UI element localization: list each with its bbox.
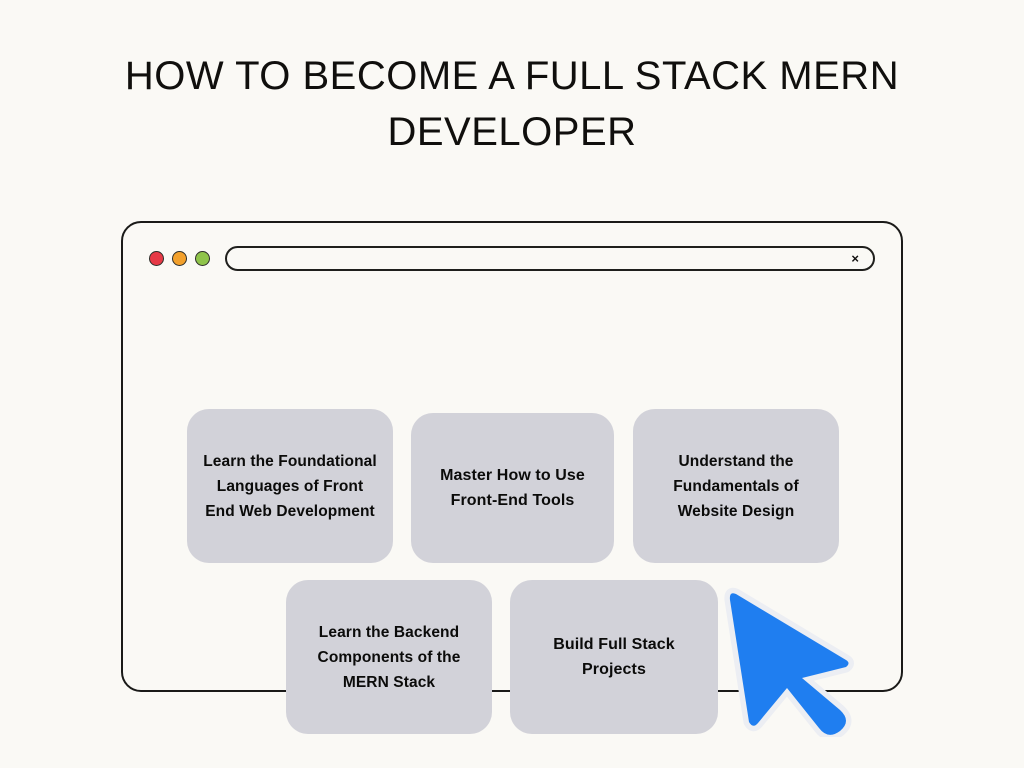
step-card-5[interactable]: Build Full Stack Projects [510,580,718,734]
step-card-4[interactable]: Learn the Backend Components of the MERN… [286,580,492,734]
step-card-2[interactable]: Master How to Use Front-End Tools [411,413,614,563]
step-card-label: Learn the Backend Components of the MERN… [300,620,478,695]
minimize-window-dot[interactable] [172,251,187,266]
step-card-3[interactable]: Understand the Fundamentals of Website D… [633,409,839,563]
browser-toolbar: × [123,223,901,293]
step-card-label: Understand the Fundamentals of Website D… [647,449,825,524]
traffic-light-group [149,251,210,266]
maximize-window-dot[interactable] [195,251,210,266]
page-title: How to Become a Full Stack MERN Develope… [0,48,1024,160]
step-card-grid: Learn the Foundational Languages of Fron… [123,293,901,694]
step-card-label: Build Full Stack Projects [524,632,704,682]
step-card-label: Master How to Use Front-End Tools [425,463,600,513]
close-icon[interactable]: × [851,252,859,265]
browser-window: × Learn the Foundational Languages of Fr… [121,221,903,692]
step-card-1[interactable]: Learn the Foundational Languages of Fron… [187,409,393,563]
close-window-dot[interactable] [149,251,164,266]
step-card-label: Learn the Foundational Languages of Fron… [201,449,379,524]
address-bar[interactable]: × [225,246,875,271]
